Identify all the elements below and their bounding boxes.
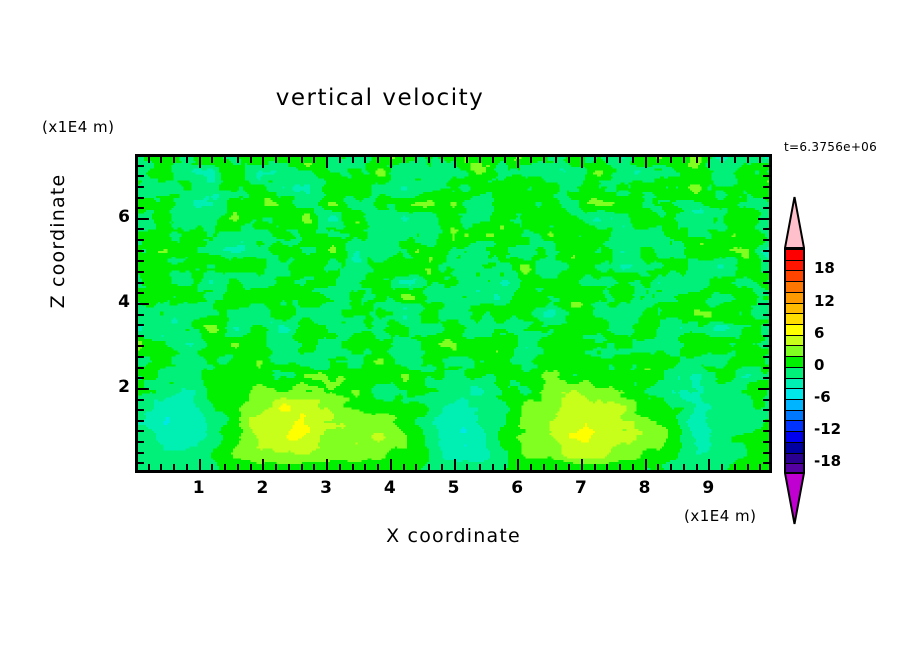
x-tick [301,464,303,470]
x-tick-top [581,157,583,168]
y-tick-right [758,388,769,390]
x-tick [696,464,698,470]
y-tick-right [763,271,769,273]
colorbar-band [786,443,803,454]
y-tick [138,345,144,347]
x-tick [441,464,443,470]
y-tick-right [763,441,769,443]
x-tick [492,464,494,470]
x-tick [517,459,519,470]
colorbar-band [786,421,803,432]
page-title: vertical velocity [0,85,760,111]
y-tick-right [763,197,769,199]
x-tick-top [657,157,659,163]
y-tick [138,239,144,241]
x-tick-top [645,157,647,168]
x-tick-top [734,157,736,163]
y-tick-label: 4 [90,292,130,312]
x-tick-top [237,157,239,163]
y-tick-right [758,303,769,305]
x-tick-top [619,157,621,163]
x-tick [352,464,354,470]
x-tick-label: 3 [306,478,346,498]
x-tick-top [504,157,506,163]
x-tick-top [288,157,290,163]
x-tick [606,464,608,470]
y-tick [138,303,149,305]
y-tick-right [763,250,769,252]
colorbar-band [786,336,803,347]
x-tick [237,464,239,470]
x-tick [619,464,621,470]
colorbar-band [786,346,803,357]
colorbar-band [786,304,803,315]
y-tick-right [763,292,769,294]
x-tick-label: 5 [434,478,474,498]
colorbar: 181260-6-12-18 [782,196,808,526]
colorbar-band [786,293,803,304]
y-tick [138,420,144,422]
x-tick [530,464,532,470]
x-tick-top [543,157,545,163]
x-tick-top [479,157,481,163]
colorbar-band [786,261,803,272]
y-tick [138,452,144,454]
x-tick-top [211,157,213,163]
x-tick-top [555,157,557,163]
y-tick [138,377,144,379]
x-tick [403,464,405,470]
colorbar-band [786,454,803,465]
x-tick-top [696,157,698,163]
x-tick-top [492,157,494,163]
x-tick-top [632,157,634,163]
x-tick-label: 7 [561,478,601,498]
y-tick-right [763,260,769,262]
y-tick-right [763,399,769,401]
y-tick [138,250,144,252]
x-tick-top [173,157,175,163]
y-tick [138,282,144,284]
x-tick [466,464,468,470]
x-tick [364,464,366,470]
y-tick-right [763,186,769,188]
y-tick [138,292,144,294]
x-tick [211,464,213,470]
y-tick [138,388,149,390]
y-tick [138,367,144,369]
contour-field [138,157,769,470]
y-tick-label: 6 [90,207,130,227]
x-tick [708,459,710,470]
colorbar-band [786,400,803,411]
x-tick [186,464,188,470]
colorbar-band [786,325,803,336]
x-tick-top [530,157,532,163]
y-tick [138,324,144,326]
x-tick [428,464,430,470]
x-tick-label: 4 [370,478,410,498]
x-tick-top [186,157,188,163]
y-tick [138,441,144,443]
colorbar-tick-label: 6 [814,324,824,342]
colorbar-tick-label: 0 [814,356,824,374]
y-tick-right [763,409,769,411]
x-tick-top [160,157,162,163]
x-tick-top [594,157,596,163]
y-tick-right [763,335,769,337]
x-tick [670,464,672,470]
x-tick [657,464,659,470]
x-tick [721,464,723,470]
colorbar-band [786,389,803,400]
x-tick-top [683,157,685,163]
colorbar-under-arrow-icon [784,472,805,525]
y-tick-right [763,420,769,422]
x-tick [339,464,341,470]
x-tick [747,464,749,470]
x-tick [479,464,481,470]
colorbar-band [786,368,803,379]
x-tick-top [377,157,379,163]
y-tick-label: 2 [90,377,130,397]
x-tick-top [326,157,328,168]
x-tick-top [441,157,443,163]
x-tick-top [670,157,672,163]
timestamp-label: t=6.3756e+06 [784,140,877,154]
colorbar-tick-label: -6 [814,388,831,406]
colorbar-band [786,250,803,261]
x-tick [632,464,634,470]
y-tick-right [758,218,769,220]
x-tick [581,459,583,470]
x-tick [148,464,150,470]
y-tick [138,186,144,188]
x-tick-top [262,157,264,168]
x-tick [275,464,277,470]
y-tick [138,314,144,316]
y-tick-right [763,175,769,177]
x-tick-top [275,157,277,163]
y-tick-right [763,377,769,379]
y-tick [138,462,144,464]
y-tick [138,260,144,262]
y-tick [138,409,144,411]
colorbar-band [786,271,803,282]
y-tick [138,356,144,358]
y-tick [138,335,144,337]
colorbar-tick-label: -18 [814,452,841,470]
colorbar-tick-label: 12 [814,292,835,310]
y-tick-right [763,430,769,432]
x-tick-top [415,157,417,163]
y-tick [138,218,149,220]
x-tick [759,464,761,470]
x-tick-label: 9 [688,478,728,498]
x-tick-top [301,157,303,163]
x-tick-top [747,157,749,163]
colorbar-band [786,357,803,368]
y-axis-unit-label: (x1E4 m) [42,118,115,136]
x-tick-top [199,157,201,168]
x-tick-label: 2 [242,478,282,498]
x-tick [504,464,506,470]
x-tick [173,464,175,470]
y-tick-right [763,228,769,230]
y-tick [138,197,144,199]
x-tick [250,464,252,470]
y-tick [138,165,144,167]
x-tick-top [721,157,723,163]
colorbar-band [786,432,803,443]
x-tick-top [568,157,570,163]
x-tick [454,459,456,470]
y-tick-right [763,452,769,454]
colorbar-band [786,282,803,293]
y-axis-title: Z coordinate [47,161,69,321]
y-tick-right [763,207,769,209]
x-tick-top [339,157,341,163]
y-tick-right [763,356,769,358]
y-tick [138,399,144,401]
colorbar-tick-label: -12 [814,420,841,438]
x-axis-title: X coordinate [135,525,772,547]
y-tick-right [763,345,769,347]
contour-plot-area [135,154,772,473]
x-tick-top [250,157,252,163]
colorbar-tick-label: 18 [814,259,835,277]
x-tick-top [759,157,761,163]
x-tick-top [364,157,366,163]
colorbar-bands [784,248,805,473]
colorbar-band [786,379,803,390]
x-tick [683,464,685,470]
x-tick [415,464,417,470]
x-tick [262,459,264,470]
x-tick [288,464,290,470]
x-tick [377,464,379,470]
x-tick [568,464,570,470]
x-tick-top [466,157,468,163]
x-tick-top [352,157,354,163]
x-tick [645,459,647,470]
y-tick [138,175,144,177]
y-tick-right [763,324,769,326]
x-tick-top [606,157,608,163]
y-tick-right [763,282,769,284]
x-tick [594,464,596,470]
x-tick-label: 8 [625,478,665,498]
x-tick [199,459,201,470]
y-tick [138,228,144,230]
x-tick [734,464,736,470]
colorbar-band [786,314,803,325]
x-tick-top [708,157,710,168]
x-tick-label: 1 [179,478,219,498]
x-tick [555,464,557,470]
y-tick [138,271,144,273]
x-tick [543,464,545,470]
y-tick-right [763,367,769,369]
y-tick-right [763,165,769,167]
x-tick [326,459,328,470]
x-tick-top [224,157,226,163]
x-tick-top [403,157,405,163]
y-tick-right [763,239,769,241]
y-tick [138,430,144,432]
y-tick-right [763,462,769,464]
x-tick-top [454,157,456,168]
x-tick-top [313,157,315,163]
x-tick-top [428,157,430,163]
colorbar-over-arrow-icon [784,196,805,249]
colorbar-band [786,411,803,422]
x-axis-unit-label: (x1E4 m) [684,507,757,525]
x-tick [390,459,392,470]
x-tick [224,464,226,470]
x-tick [313,464,315,470]
y-tick [138,207,144,209]
x-tick-top [148,157,150,163]
y-tick-right [763,314,769,316]
x-tick [160,464,162,470]
x-tick-top [517,157,519,168]
x-tick-top [390,157,392,168]
x-tick-label: 6 [497,478,537,498]
